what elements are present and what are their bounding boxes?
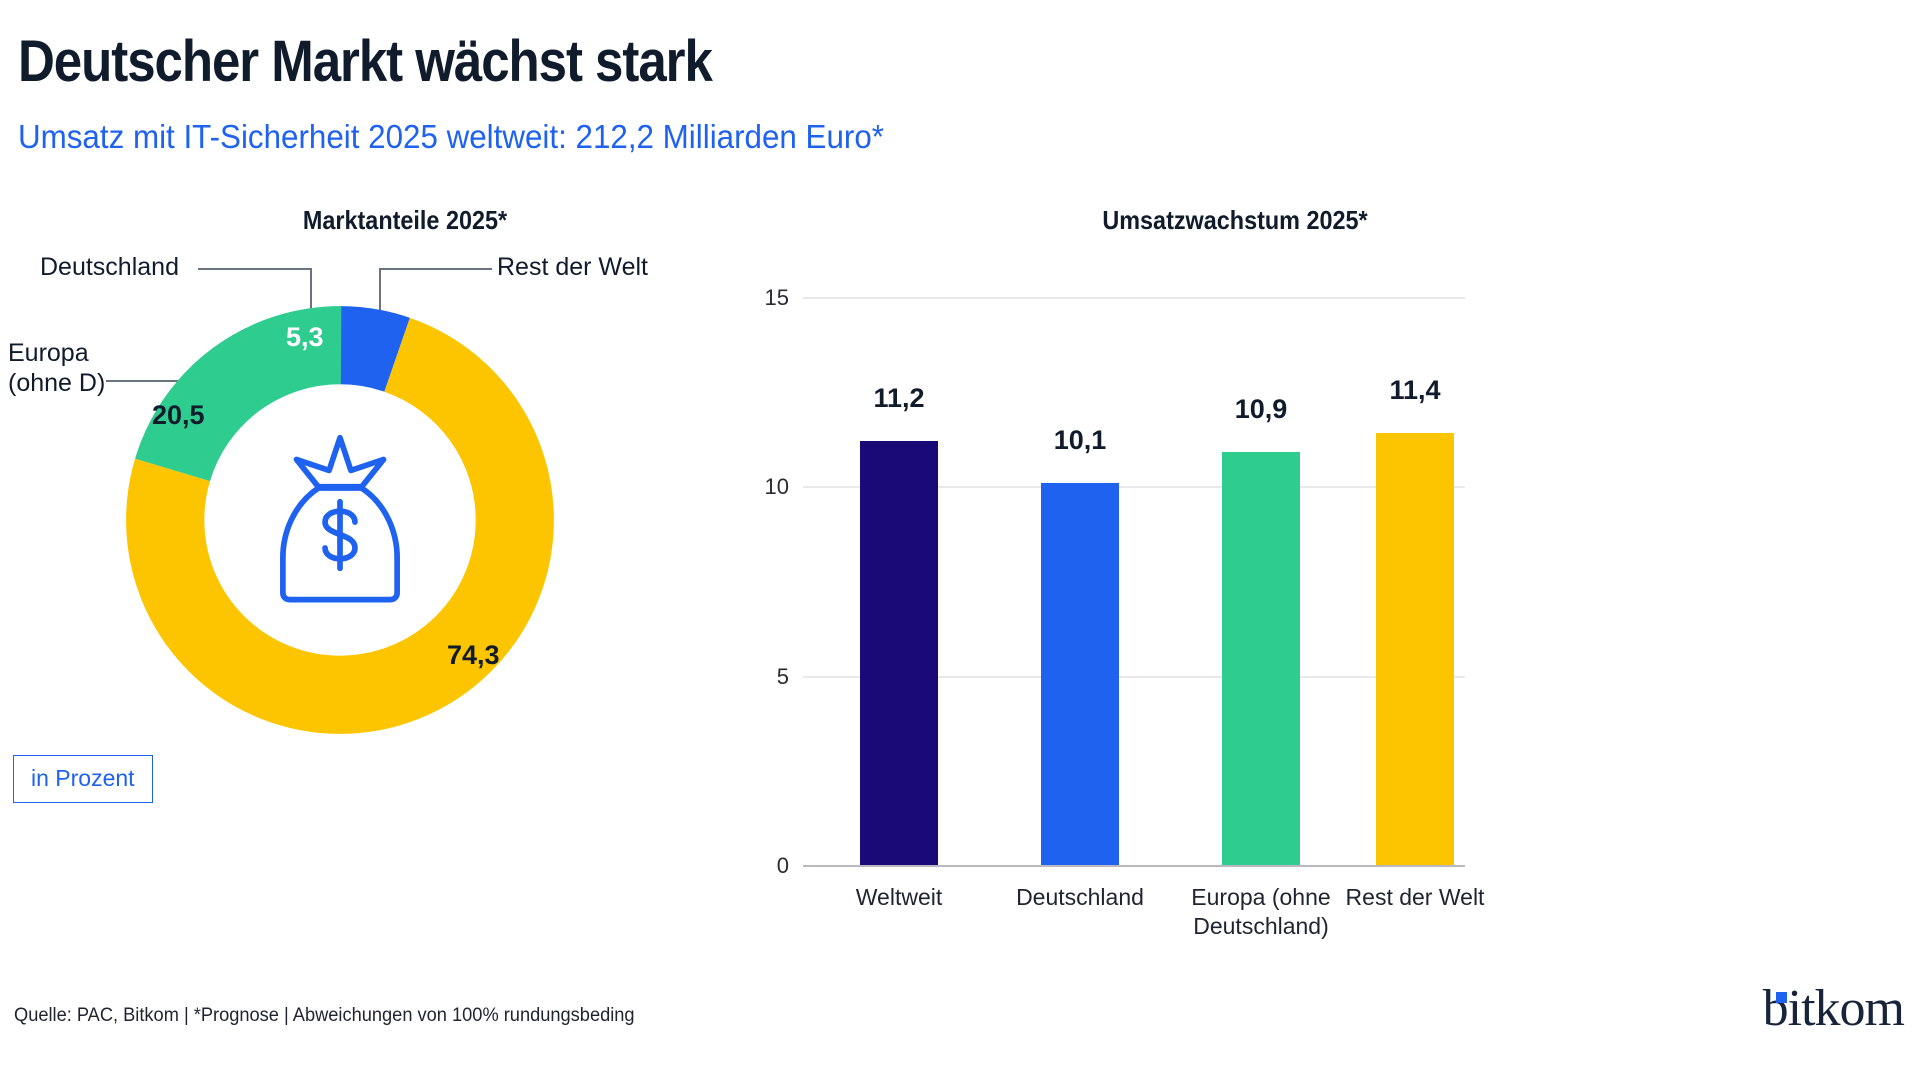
bar-chart: 15 10 5 0 11,2 10,1 10,9 11,4 Weltweit D… [745,285,1465,885]
donut-value-europa: 20,5 [152,400,205,431]
axis-baseline [803,865,1465,867]
donut-label-deutschland: Deutschland [40,253,179,283]
bitkom-logo-dot [1776,992,1787,1003]
ytick-label-15: 15 [745,285,789,311]
money-bag-icon [272,432,408,604]
bar-rest-der-welt [1376,433,1454,865]
donut-value-deutschland: 5,3 [286,322,324,353]
bar-value-weltweit: 11,2 [860,383,938,414]
bar-weltweit [860,441,938,865]
donut-chart-title: Marktanteile 2025* [167,205,644,236]
bar-category-deutschland: Deutschland [1005,883,1155,912]
page-subtitle: Umsatz mit IT-Sicherheit 2025 weltweit: … [18,118,884,156]
bar-category-rest-der-welt-line1: Rest der Welt [1346,884,1485,910]
bar-category-europa-line2: Deutschland) [1193,913,1329,939]
in-prozent-badge: in Prozent [13,755,153,803]
ytick-label-0: 0 [745,853,789,879]
donut-label-europa-line1: Europa [8,339,89,367]
bar-category-deutschland-line1: Deutschland [1016,884,1144,910]
bar-deutschland [1041,483,1119,865]
donut-label-europa-line2: (ohne D) [8,369,105,397]
bar-chart-title: Umsatzwachstum 2025* [961,205,1510,236]
bar-category-weltweit: Weltweit [824,883,974,912]
source-note: Quelle: PAC, Bitkom | *Prognose | Abweic… [14,1005,635,1027]
donut-label-rest-der-welt: Rest der Welt [497,253,648,283]
bar-value-deutschland: 10,1 [1041,425,1119,456]
bar-category-europa-line1: Europa (ohne [1191,884,1330,910]
donut-value-rest-der-welt: 74,3 [447,640,500,671]
bitkom-logo: bitkom [1763,983,1904,1035]
ytick-label-5: 5 [745,664,789,690]
bar-europa [1222,452,1300,865]
ytick-label-10: 10 [745,474,789,500]
leader-line-deutschland-h [198,268,311,270]
bar-category-europa: Europa (ohne Deutschland) [1181,883,1341,942]
bar-category-weltweit-line1: Weltweit [856,884,943,910]
bar-category-rest-der-welt: Rest der Welt [1340,883,1490,912]
donut-label-europa: Europa (ohne D) [8,339,105,398]
gridline-15 [803,297,1465,299]
leader-line-rest-h [380,268,492,270]
page-title: Deutscher Markt wächst stark [18,28,712,95]
bar-value-rest-der-welt: 11,4 [1376,375,1454,406]
bar-value-europa: 10,9 [1222,394,1300,425]
